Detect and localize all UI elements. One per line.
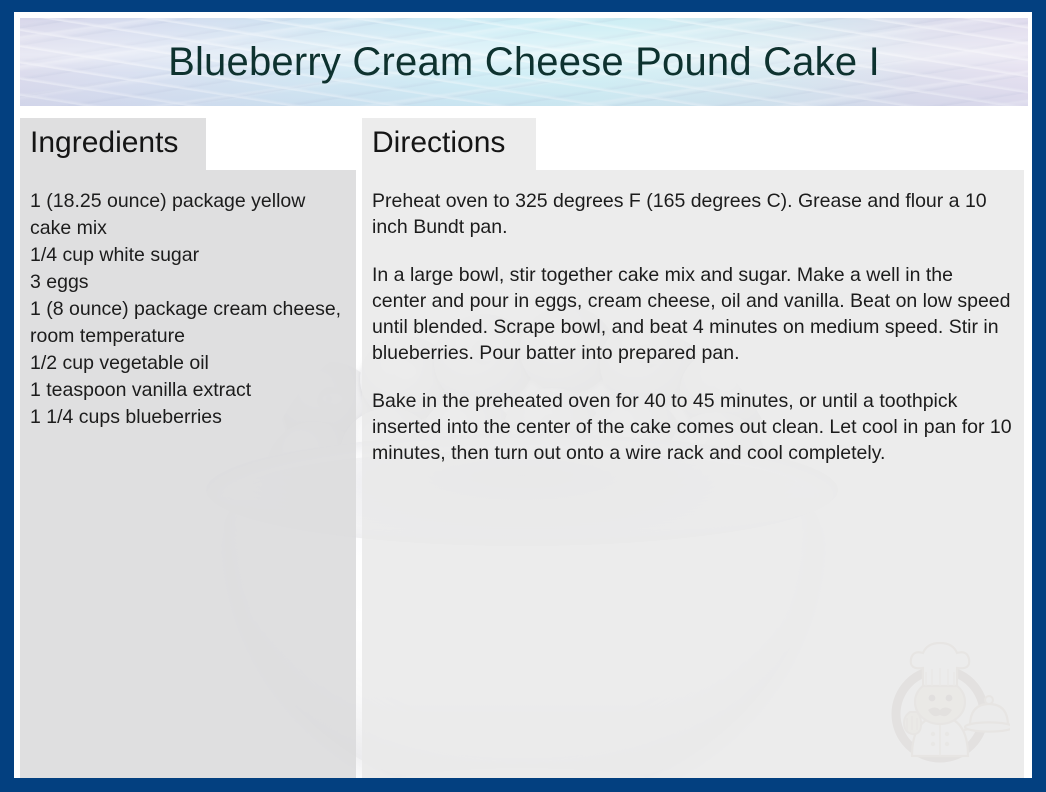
ingredients-list: 1 (18.25 ounce) package yellow cake mix … bbox=[30, 188, 344, 431]
ingredients-heading-notch bbox=[206, 118, 356, 170]
list-item: 1 1/4 cups blueberries bbox=[30, 404, 344, 431]
recipe-card: Blueberry Cream Cheese Pound Cake I Ingr… bbox=[0, 0, 1046, 792]
list-item: 1/2 cup vegetable oil bbox=[30, 350, 344, 377]
page-title: Blueberry Cream Cheese Pound Cake I bbox=[20, 42, 1028, 82]
directions-heading-notch bbox=[536, 118, 1024, 170]
direction-step: Preheat oven to 325 degrees F (165 degre… bbox=[372, 188, 1012, 240]
ingredients-heading: Ingredients bbox=[30, 126, 178, 160]
ingredients-body: 1 (18.25 ounce) package yellow cake mix … bbox=[30, 188, 344, 431]
ingredients-panel: Ingredients 1 (18.25 ounce) package yell… bbox=[20, 118, 356, 778]
directions-steps: Preheat oven to 325 degrees F (165 degre… bbox=[372, 188, 1012, 466]
direction-step: In a large bowl, stir together cake mix … bbox=[372, 262, 1012, 366]
directions-panel: Directions Preheat oven to 325 degrees F… bbox=[362, 118, 1024, 778]
list-item: 1/4 cup white sugar bbox=[30, 242, 344, 269]
list-item: 3 eggs bbox=[30, 269, 344, 296]
list-item: 1 (18.25 ounce) package yellow cake mix bbox=[30, 188, 344, 242]
directions-body-wrap: Preheat oven to 325 degrees F (165 degre… bbox=[372, 188, 1012, 466]
list-item: 1 (8 ounce) package cream cheese, room t… bbox=[30, 296, 344, 350]
title-banner: Blueberry Cream Cheese Pound Cake I bbox=[20, 18, 1028, 106]
directions-heading: Directions bbox=[372, 126, 505, 160]
direction-step: Bake in the preheated oven for 40 to 45 … bbox=[372, 388, 1012, 466]
list-item: 1 teaspoon vanilla extract bbox=[30, 377, 344, 404]
